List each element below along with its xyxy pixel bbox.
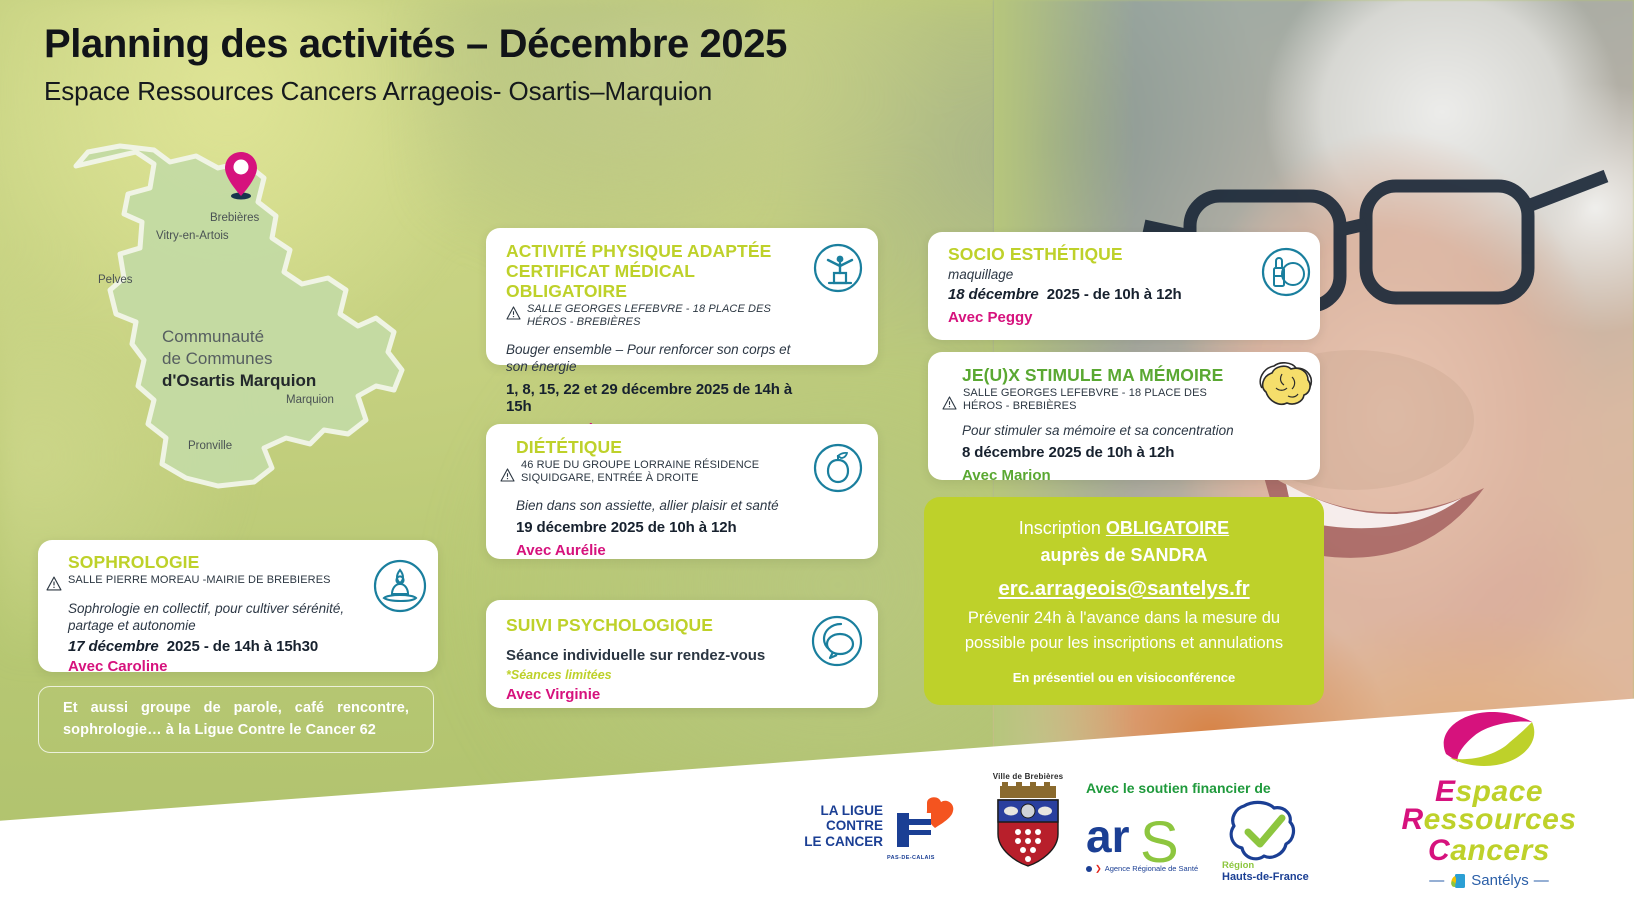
warning-icon [942,396,957,410]
card-description: Pour stimuler sa mémoire et sa concentra… [962,422,1240,440]
footer-logos: LA LIGUE CONTRE LE CANCER PAS-DE-CALAIS … [0,717,1634,917]
logo-ligue-contre-le-cancer: LA LIGUE CONTRE LE CANCER PAS-DE-CALAIS [793,785,965,867]
lipstick-icon [1260,246,1312,298]
card-description: Sophrologie en collectif, pour cultiver … [68,600,362,635]
apple-icon [812,442,864,494]
map-label-vitry: Vitry-en-Artois [156,230,229,242]
erc-line2-a: C [1428,834,1450,867]
ligue-line2: CONTRE [793,818,889,833]
card-date: 8 décembre 2025 de 10h à 12h [962,444,1240,461]
card-title: JE(U)X STIMULE MA MÉMOIRE [962,366,1240,386]
card-note: *Séances limitées [506,668,800,682]
warning-icon [500,468,515,482]
card-description: maquillage [948,266,1242,284]
map-title-line3: d'Osartis Marquion [162,370,316,392]
logo-ville-de-brebieres: Ville de Brebières [990,772,1066,873]
card-date-day: 17 décembre [68,638,159,655]
erc-line2-b: ancers [1450,834,1550,867]
map-label-pronville: Pronville [188,440,232,452]
poster-root: Planning des activités – Décembre 2025 E… [0,0,1634,917]
map-pin-icon [223,150,259,200]
map-title-line1: Communauté [162,326,264,348]
card-venue: SALLE PIERRE MOREAU -MAIRIE DE BREBIERES [68,574,331,587]
map-label-pelves: Pelves [98,274,133,286]
svg-text:ar: ar [1086,810,1130,862]
card-date-rest: 2025 - de 14h à 15h30 [167,638,318,655]
infobox-footer: En présentiel ou en visioconférence [948,670,1300,685]
ligue-line3: LE CANCER [793,834,889,849]
erc-line1-c: R [1401,803,1423,836]
card-facilitator: Avec Virginie [506,686,800,703]
card-activite-physique[interactable]: ACTIVITÉ PHYSIQUE ADAPTÉE CERTIFICAT MÉD… [486,228,878,365]
ligue-sub: PAS-DE-CALAIS [887,855,935,861]
card-socio-esthetique[interactable]: SOCIO ESTHÉTIQUE maquillage 18 décembre … [928,232,1320,340]
brain-icon [1254,362,1316,418]
card-venue: SALLE GEORGES LEFEBVRE - 18 PLACE DES HÉ… [527,303,800,330]
infobox-line2: auprès de SANDRA [948,542,1300,568]
card-venue: SALLE GEORGES LEFEBVRE - 18 PLACE DES HÉ… [963,387,1229,414]
santelys-dash-left: — [1429,872,1444,889]
infobox-line1-prefix: Inscription [1019,518,1106,538]
card-facilitator: Avec Marion [962,467,1240,484]
region-line1: Région [1222,860,1309,871]
card-description: Bien dans son assiette, allier plaisir e… [516,497,800,515]
card-date: 1, 8, 15, 22 et 29 décembre 2025 de 14h … [506,381,800,415]
ligue-line1: LA LIGUE [793,803,889,818]
card-title: SOCIO ESTHÉTIQUE [948,245,1242,265]
svg-text:S: S [1140,810,1179,872]
card-date-rest: 2025 - de 10h à 12h [1047,286,1182,303]
poster-header: Planning des activités – Décembre 2025 E… [44,22,787,107]
card-facilitator: Avec Peggy [948,309,1242,326]
warning-icon [506,306,521,320]
card-title: SOPHROLOGIE [68,553,362,573]
region-line2: Hauts-de-France [1222,871,1309,883]
card-title: SUIVI PSYCHOLOGIQUE [506,616,800,636]
card-date-day: 18 décembre [948,286,1039,303]
ars-sub: Agence Régionale de Santé [1105,864,1198,873]
card-description: Bouger ensemble – Pour renforcer son cor… [506,341,800,376]
card-jeux-memoire[interactable]: JE(U)X STIMULE MA MÉMOIRE SALLE GEORGES … [928,352,1320,480]
page-subtitle: Espace Ressources Cancers Arrageois- Osa… [44,76,787,107]
ars-arrow-icon: ❯ [1095,864,1102,873]
blason-title: Ville de Brebières [990,772,1066,781]
page-title: Planning des activités – Décembre 2025 [44,22,787,67]
card-title: DIÉTÉTIQUE [516,438,800,458]
contact-email-link[interactable]: erc.arrageois@santelys.fr [948,576,1300,603]
card-date: 19 décembre 2025 de 10h à 12h [516,519,800,536]
card-subtitle: Séance individuelle sur rendez-vous [506,647,800,664]
ars-logo-icon: ar S [1086,810,1208,872]
logo-espace-ressources-cancers: Espace Ressources Cancers — Santélys — [1344,708,1634,890]
santelys-mark-icon [1449,872,1466,889]
card-sophrologie[interactable]: SOPHROLOGIE SALLE PIERRE MOREAU -MAIRIE … [38,540,438,672]
map-title-line2: de Communes [162,348,273,370]
card-suivi-psychologique[interactable]: SUIVI PSYCHOLOGIQUE Séance individuelle … [486,600,878,708]
ligue-mark-icon [893,797,957,855]
territory-map: Brebières Vitry-en-Artois Pelves Marquio… [58,138,458,490]
blason-shield-icon [990,782,1066,868]
erc-line1-d: essources [1424,803,1577,836]
card-venue: 46 RUE DU GROUPE LORRAINE RÉSIDENCE SIQU… [521,459,800,486]
erc-swoosh-icon [1430,708,1548,774]
speech-bubbles-icon [810,614,864,668]
infobox-paragraph: Prévenir 24h à l'avance dans la mesure d… [948,606,1300,657]
card-facilitator: Avec Caroline [68,658,362,675]
ars-dot-icon [1086,866,1092,872]
warning-icon [46,576,62,591]
map-label-brebieres: Brebières [210,212,259,224]
card-dietetique[interactable]: DIÉTÉTIQUE 46 RUE DU GROUPE LORRAINE RÉS… [486,424,878,559]
santelys-logo: — Santélys — [1344,872,1634,889]
map-label-marquion: Marquion [286,394,334,406]
registration-infobox: Inscription OBLIGATOIRE auprès de SANDRA… [924,497,1324,705]
card-title-line1: ACTIVITÉ PHYSIQUE ADAPTÉE [506,242,800,262]
meditation-icon [372,558,428,614]
card-title-line2: CERTIFICAT MÉDICAL OBLIGATOIRE [506,262,800,302]
ars-headline: Avec le soutien financier de [1086,780,1314,796]
santelys-dash-right: — [1534,872,1549,889]
santelys-wordmark: Santélys [1471,872,1529,889]
infobox-line1-strong: OBLIGATOIRE [1106,518,1229,538]
card-facilitator: Avec Aurélie [516,542,800,559]
logo-ars-group: Avec le soutien financier de ar S ❯ Agen… [1086,780,1314,877]
exercise-person-icon [812,242,864,294]
